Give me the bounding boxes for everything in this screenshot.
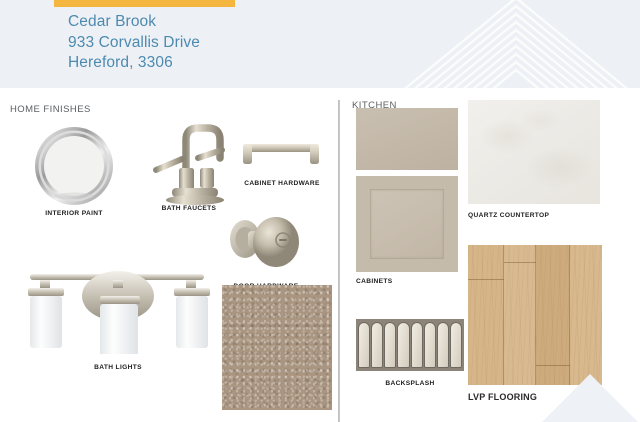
swatch-interior-paint[interactable] [28, 126, 120, 206]
backsplash-tile [358, 322, 370, 368]
lvp-seam [504, 262, 536, 263]
cabinet-inset-panel [370, 189, 444, 259]
property-name: Cedar Brook [68, 12, 200, 33]
swatch-kitchen-paint[interactable] [356, 108, 458, 170]
backsplash-tile [450, 322, 462, 368]
section-divider [338, 100, 340, 422]
finishes-board: Cedar Brook 933 Corvallis Drive Hereford… [0, 0, 640, 422]
section-title-home-finishes: HOME FINISHES [10, 104, 91, 115]
caption-backsplash: BACKSPLASH [356, 380, 464, 387]
backsplash-tile [371, 322, 383, 368]
backsplash-tile [397, 322, 409, 368]
swatch-bath-faucets[interactable] [146, 112, 232, 208]
caption-bath-faucets: BATH FAUCETS [140, 205, 238, 212]
swatch-cabinet-hardware[interactable] [238, 138, 324, 172]
swatch-carpet[interactable] [222, 285, 332, 410]
caption-cabinet-hardware: CABINET HARDWARE [236, 180, 328, 187]
swatch-bath-lights[interactable] [18, 258, 218, 354]
lvp-plank [570, 245, 602, 385]
lvp-seam [468, 279, 504, 280]
chevron-pattern-icon [386, 0, 640, 88]
header: Cedar Brook 933 Corvallis Drive Hereford… [0, 0, 640, 88]
caption-quartz-countertop: QUARTZ COUNTERTOP [468, 212, 600, 219]
property-city-zip: Hereford, 3306 [68, 53, 200, 74]
swatch-backsplash[interactable] [356, 319, 464, 371]
caption-interior-paint: INTERIOR PAINT [28, 210, 120, 217]
property-address: Cedar Brook 933 Corvallis Drive Hereford… [68, 12, 200, 74]
backsplash-tile [437, 322, 449, 368]
swatch-cabinets[interactable] [356, 176, 458, 272]
swatch-door-hardware[interactable] [228, 212, 302, 278]
lvp-plank [536, 245, 570, 385]
backsplash-tile [424, 322, 436, 368]
caption-bath-lights: BATH LIGHTS [48, 364, 188, 371]
backsplash-tile [384, 322, 396, 368]
property-street: 933 Corvallis Drive [68, 33, 200, 54]
backsplash-tile [411, 322, 423, 368]
swatch-quartz-countertop[interactable] [468, 100, 600, 204]
caption-lvp-flooring: LVP FLOORING [468, 392, 602, 402]
lvp-plank [504, 245, 536, 385]
accent-bar [54, 0, 235, 7]
lvp-seam [536, 365, 570, 366]
lvp-plank [468, 245, 504, 385]
swatch-lvp-flooring[interactable] [468, 245, 602, 385]
caption-cabinets: CABINETS [356, 278, 426, 285]
